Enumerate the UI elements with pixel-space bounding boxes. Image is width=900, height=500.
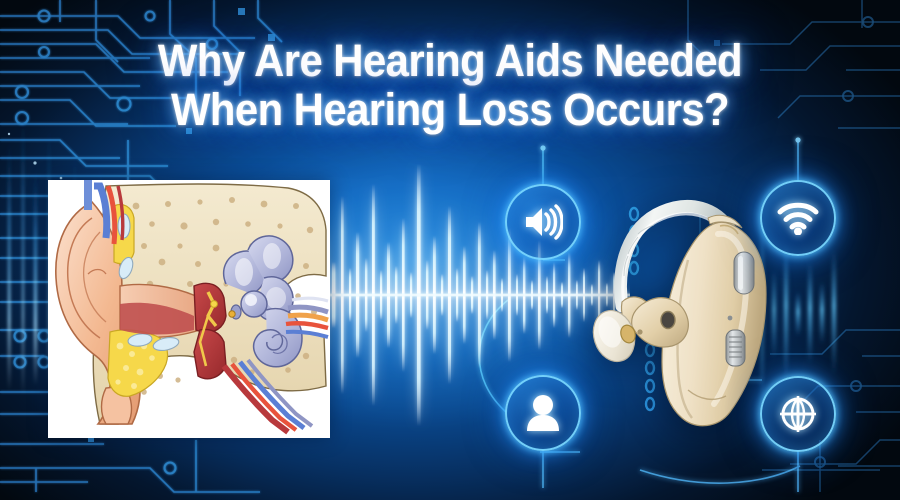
ear-anatomy-panel [48,180,330,438]
feature-node-speaker[interactable] [505,184,581,260]
globe-network-icon [778,394,818,434]
person-icon [525,394,561,432]
ear-anatomy-illustration [48,180,330,438]
feature-node-wifi[interactable] [760,180,836,256]
hearing-aid-banner: Why Are Hearing Aids Needed When Hearing… [0,0,900,500]
feature-node-globe[interactable] [760,376,836,452]
feature-node-person[interactable] [505,375,581,451]
behind-the-ear-hearing-aid [580,190,790,430]
speaker-volume-icon [523,203,563,241]
wifi-icon [777,201,819,235]
